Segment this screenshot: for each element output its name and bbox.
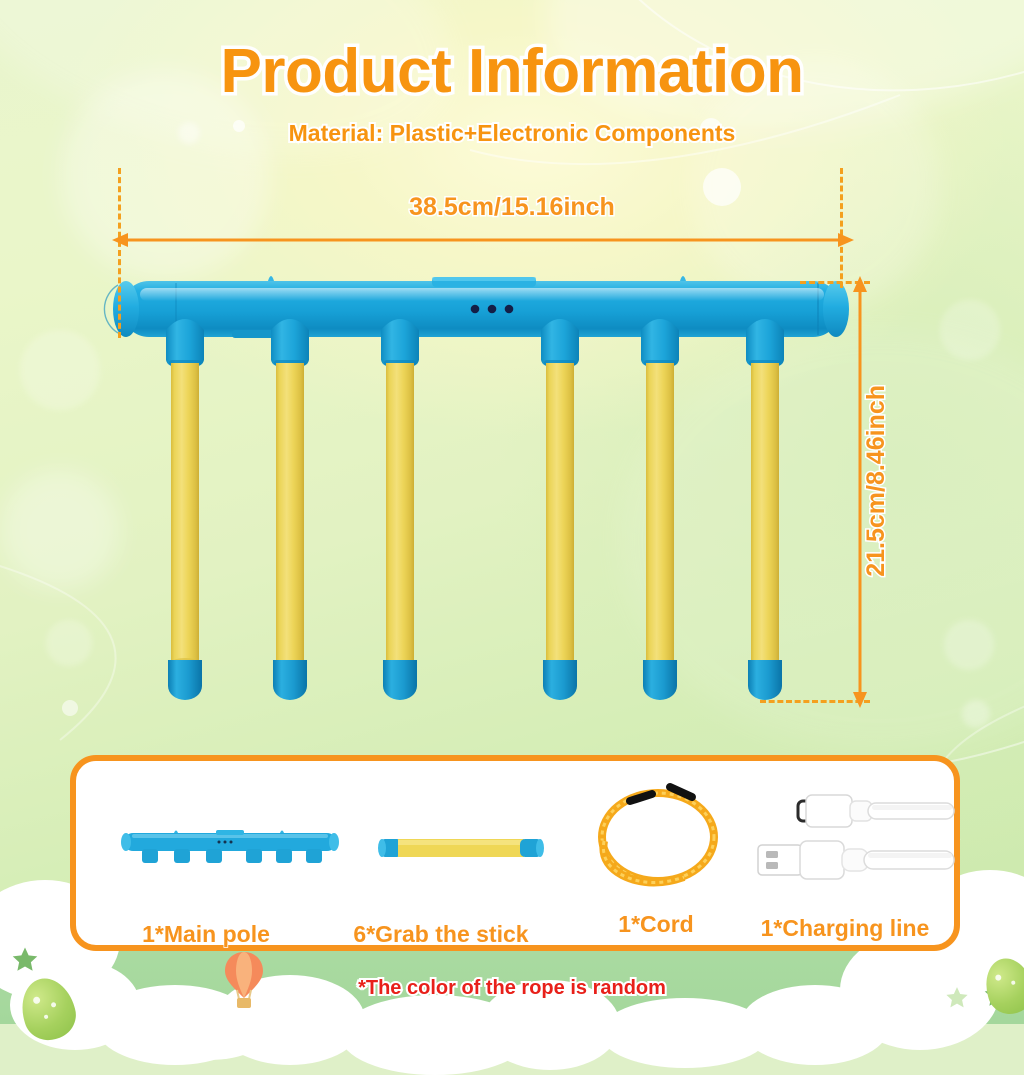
accessories-panel: 1*Main pole 6*Grab the stick 1*Cord — [70, 755, 960, 951]
stick-group-3 — [381, 319, 419, 700]
main-pole-icon — [118, 827, 342, 867]
accessory-grab-stick: 6*Grab the stick — [326, 783, 556, 953]
stick-group-4 — [541, 319, 579, 700]
accessory-label: 1*Main pole — [96, 921, 316, 948]
stick-group-2 — [271, 319, 309, 700]
disclaimer-text: *The color of the rope is random — [0, 977, 1024, 1000]
main-pole-body — [104, 276, 849, 338]
cord-icon — [588, 779, 728, 899]
indicator-dot — [488, 305, 497, 314]
grab-stick-icon — [376, 831, 546, 863]
accessory-label: 6*Grab the stick — [326, 921, 556, 948]
usb-a-connector-icon — [756, 835, 956, 885]
accessory-cord: 1*Cord — [566, 773, 746, 953]
accessory-label: 1*Charging line — [736, 915, 954, 942]
accessory-main-pole: 1*Main pole — [96, 783, 316, 953]
page-title: Product Information — [0, 36, 1024, 107]
height-dimension-label: 21.5cm/8.46inch — [862, 385, 891, 577]
indicator-dot — [505, 305, 514, 314]
usb-c-connector-icon — [796, 791, 956, 837]
stick-group-6 — [746, 319, 784, 700]
width-dimension-label: 38.5cm/15.16inch — [0, 193, 1024, 222]
indicator-dot — [471, 305, 480, 314]
accessory-label: 1*Cord — [566, 911, 746, 938]
stick-group-5 — [641, 319, 679, 700]
width-dimension-arrow — [110, 228, 856, 252]
stick-group-1 — [166, 319, 204, 700]
page-subtitle: Material: Plastic+Electronic Components — [0, 120, 1024, 147]
accessory-charging-line: 1*Charging line — [736, 777, 954, 953]
